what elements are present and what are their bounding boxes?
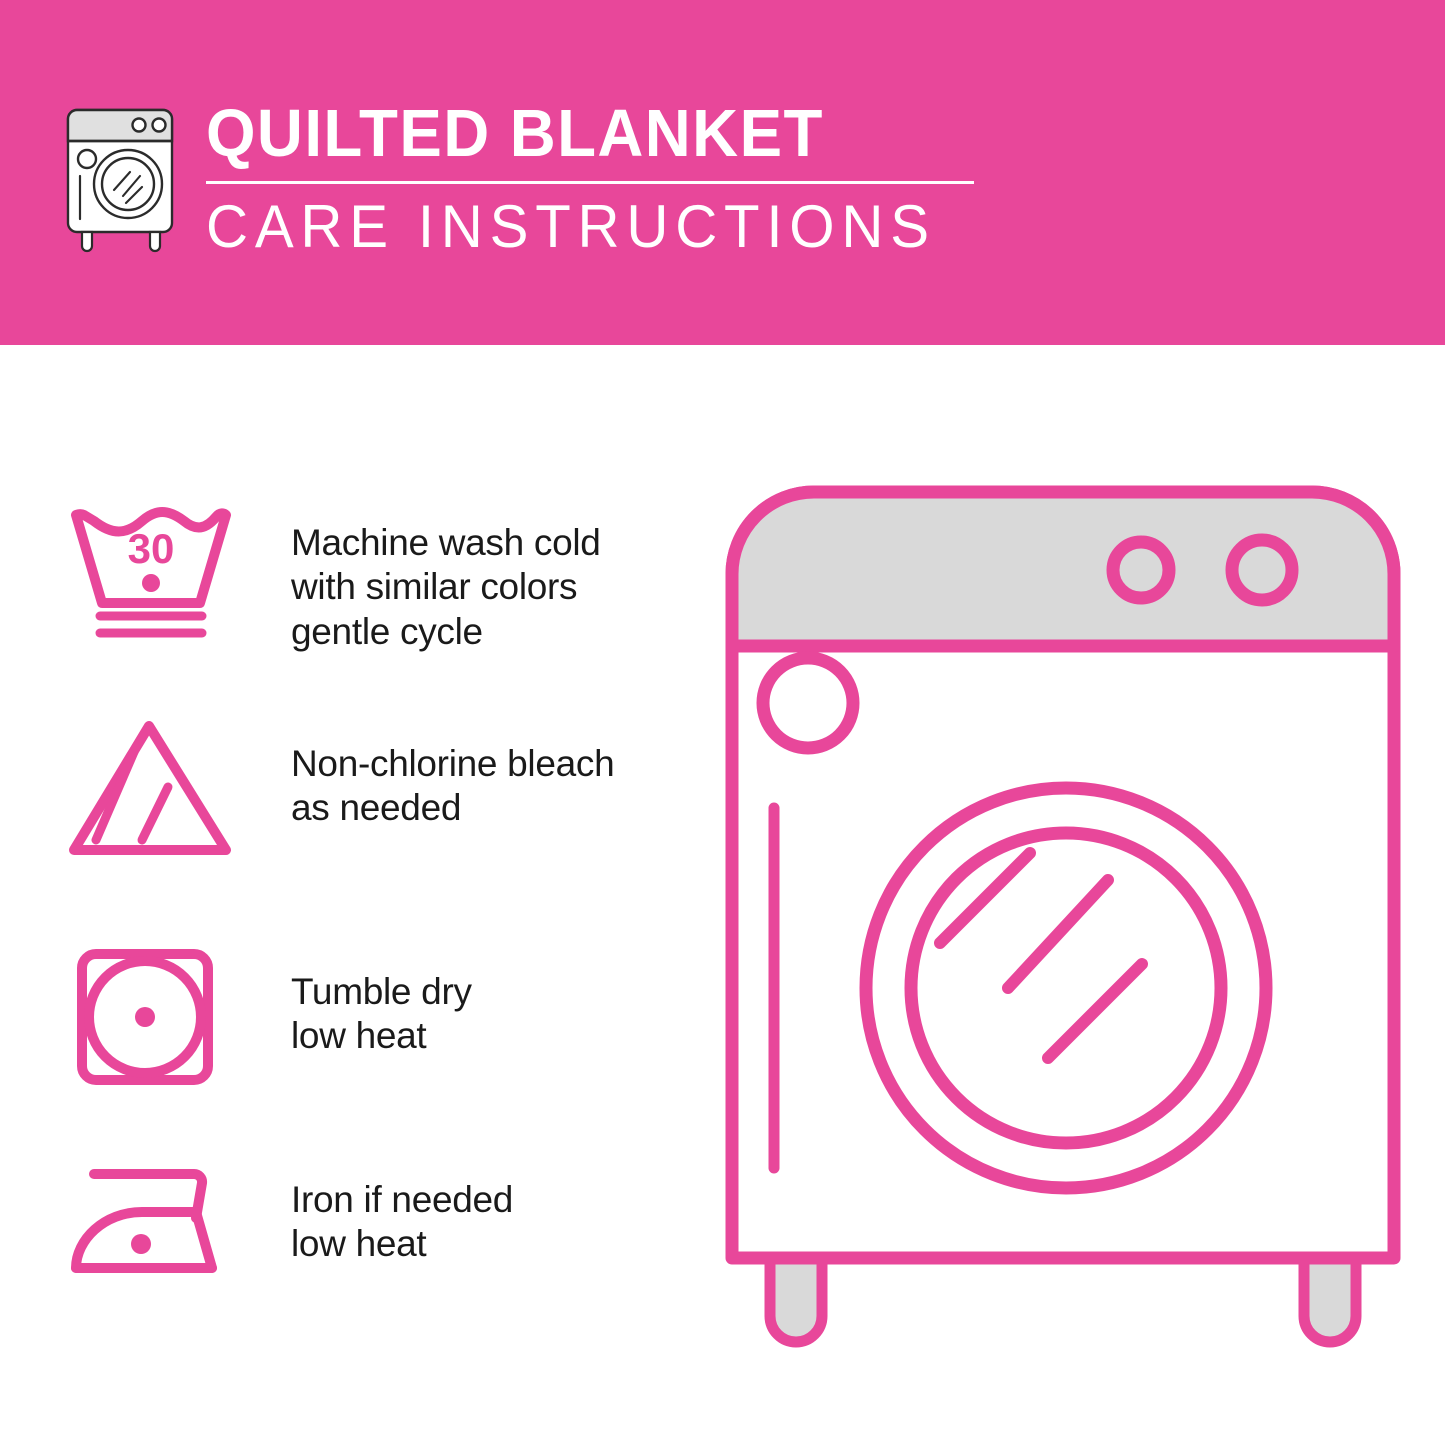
text-line: with similar colors (291, 565, 704, 609)
washing-machine-icon (62, 104, 184, 254)
list-item-text: Iron if needed low heat (239, 1148, 704, 1267)
list-item-text: Non-chlorine bleach as needed (239, 712, 704, 831)
washing-machine-illustration (718, 478, 1408, 1368)
text-line: Non-chlorine bleach (291, 742, 704, 786)
page-subtitle: CARE INSTRUCTIONS (206, 197, 951, 257)
text-line: Machine wash cold (291, 521, 704, 565)
tumble-dry-icon (64, 942, 239, 1092)
detergent-dispenser-icon (763, 658, 853, 748)
list-item-text: Machine wash cold with similar colors ge… (239, 495, 704, 654)
wash-temperature-label: 30 (128, 525, 175, 572)
iron-icon (64, 1148, 239, 1298)
text-line: Tumble dry (291, 970, 704, 1014)
list-item: Non-chlorine bleach as needed (64, 712, 704, 862)
list-item-text: Tumble dry low heat (239, 942, 704, 1059)
list-item: Tumble dry low heat (64, 942, 704, 1092)
wash-tub-30-icon: 30 (64, 495, 239, 645)
title-block: QUILTED BLANKET CARE INSTRUCTIONS (206, 98, 974, 257)
list-item: 30 Machine wash cold with similar colors… (64, 495, 704, 654)
washer-door-inner (911, 833, 1221, 1143)
title-divider (206, 181, 974, 184)
control-knob-2 (1232, 540, 1292, 600)
bleach-triangle-icon (64, 712, 239, 862)
control-knob-1 (1113, 542, 1169, 598)
page-title: QUILTED BLANKET (206, 100, 936, 167)
header-content: QUILTED BLANKET CARE INSTRUCTIONS (62, 98, 974, 257)
text-line: low heat (291, 1014, 704, 1058)
text-line: Iron if needed (291, 1178, 704, 1222)
text-line: gentle cycle (291, 610, 704, 654)
text-line: as needed (291, 786, 704, 830)
text-line: low heat (291, 1222, 704, 1266)
header-banner: QUILTED BLANKET CARE INSTRUCTIONS (0, 0, 1445, 345)
list-item: Iron if needed low heat (64, 1148, 704, 1298)
